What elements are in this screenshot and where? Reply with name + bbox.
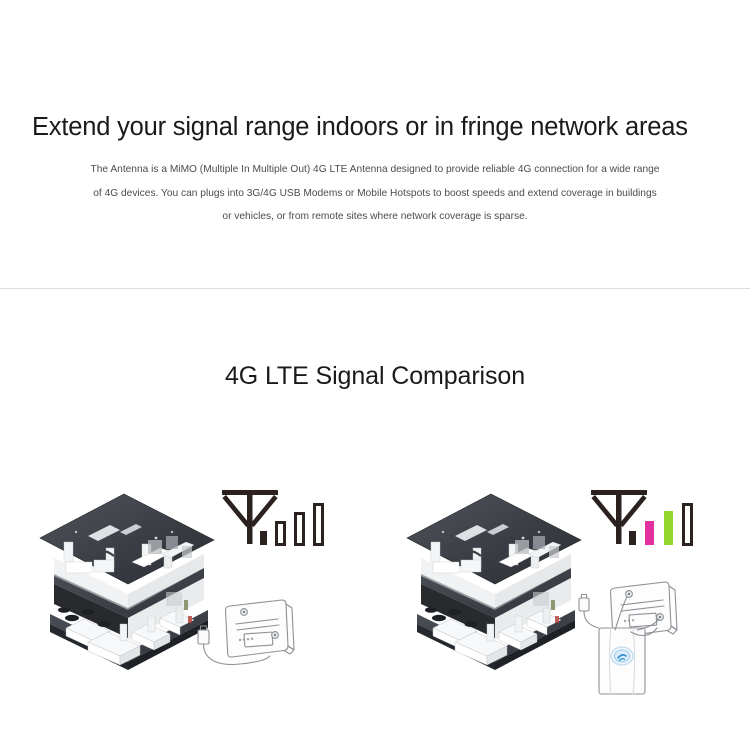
- signal-bars-icon: [629, 505, 692, 546]
- house-cutaway-svg: [403, 488, 583, 678]
- router-illustration-left: [196, 580, 306, 698]
- signal-indicator-right: [587, 484, 705, 558]
- signal-indicator-svg-right: [587, 484, 705, 558]
- wifi-router-line-drawing: [196, 580, 306, 698]
- house-cutaway-illustration-left: [36, 488, 216, 678]
- signal-bars-icon: [260, 505, 323, 546]
- signal-indicator-svg-left: [218, 484, 336, 558]
- hero-description-line-1: The Antenna is a MiMO (Multiple In Multi…: [28, 158, 722, 182]
- page-title: Extend your signal range indoors or in f…: [20, 0, 730, 144]
- wifi-router-with-mimo-antenna-line-drawing: [575, 570, 693, 698]
- comparison-row: [0, 470, 750, 700]
- router-with-antenna-illustration-right: [575, 570, 693, 698]
- hero-section: Extend your signal range indoors or in f…: [0, 0, 750, 229]
- hero-description-line-3: or vehicles, or from remote sites where …: [28, 205, 722, 229]
- comparison-panel-without-antenna: [0, 470, 375, 700]
- antenna-mast-icon: [591, 490, 647, 544]
- antenna-mast-icon: [222, 490, 278, 544]
- hero-description-line-2: of 4G devices. You can plugs into 3G/4G …: [28, 182, 722, 206]
- comparison-title: 4G LTE Signal Comparison: [0, 362, 750, 391]
- hero-description: The Antenna is a MiMO (Multiple In Multi…: [20, 144, 730, 229]
- section-divider: [0, 288, 750, 289]
- comparison-panel-with-antenna: [375, 470, 750, 700]
- house-cutaway-svg: [36, 488, 216, 678]
- signal-indicator-left: [218, 484, 336, 558]
- house-cutaway-illustration-right: [403, 488, 583, 678]
